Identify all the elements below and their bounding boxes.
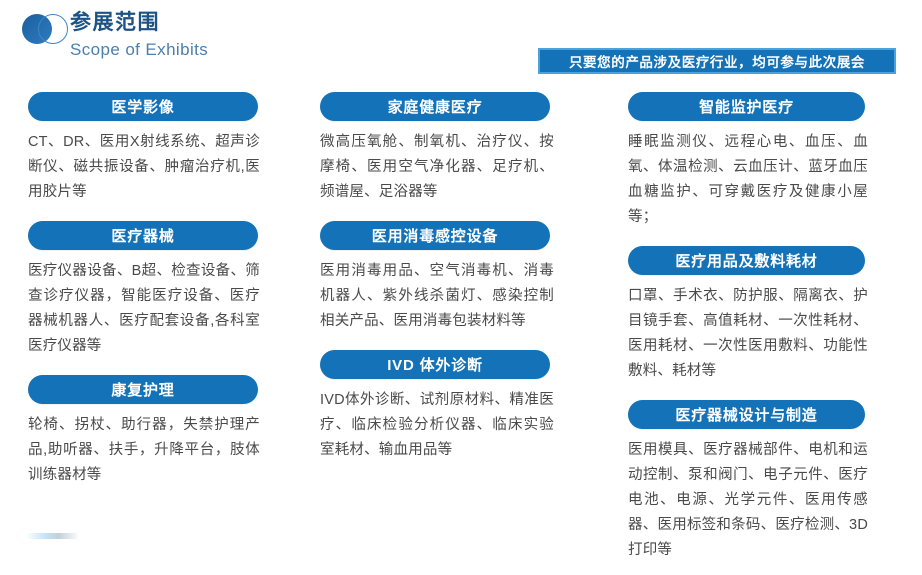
scope-card-title: 家庭健康医疗 [388,96,483,117]
logo-circle-outline [38,14,68,44]
page-header: 参展范围 Scope of Exhibits 只要您的产品涉及医疗行业，均可参与… [0,0,922,92]
scope-card: 医疗器械设计与制造 医用模具、医疗器械部件、电机和运动控制、泵和阀门、电子元件、… [628,400,912,563]
scope-card: 家庭健康医疗 微高压氧舱、制氧机、治疗仪、按摩椅、医用空气净化器、足疗机、频谱屋… [320,92,606,205]
scope-card-title-pill[interactable]: 家庭健康医疗 [320,92,550,121]
scope-columns: 医学影像 CT、DR、医用X射线系统、超声诊断仪、磁共振设备、肿瘤治疗机,医用胶… [0,92,922,575]
scope-card-title: IVD 体外诊断 [387,354,483,375]
footer-accent-mark [26,533,80,539]
tagline-text: 只要您的产品涉及医疗行业，均可参与此次展会 [569,51,865,71]
scope-card-title-pill[interactable]: 康复护理 [28,375,258,404]
scope-card: 康复护理 轮椅、拐杖、助行器，失禁护理产品,助听器、扶手，升降平台，肢体训练器材… [28,375,296,488]
scope-card-title-pill[interactable]: 医学影像 [28,92,258,121]
scope-card-body: 微高压氧舱、制氧机、治疗仪、按摩椅、医用空气净化器、足疗机、频谱屋、足浴器等 [320,130,554,205]
overlapping-circles-logo-icon [22,14,76,44]
scope-card-body: 睡眠监测仪、远程心电、血压、血氧、体温检测、云血压计、蓝牙血压血糖监护、可穿戴医… [628,130,868,230]
scope-card-title-pill[interactable]: 智能监护医疗 [628,92,865,121]
scope-card-title: 医用消毒感控设备 [372,225,498,246]
page-title-block: 参展范围 Scope of Exhibits [70,10,208,62]
scope-card-title-pill[interactable]: 医疗用品及敷料耗材 [628,246,865,275]
page-title: 参展范围 [70,10,208,36]
scope-card-body: 医用消毒用品、空气消毒机、消毒机器人、紫外线杀菌灯、感染控制相关产品、医用消毒包… [320,259,554,334]
scope-card: 智能监护医疗 睡眠监测仪、远程心电、血压、血氧、体温检测、云血压计、蓝牙血压血糖… [628,92,912,230]
scope-card-body: CT、DR、医用X射线系统、超声诊断仪、磁共振设备、肿瘤治疗机,医用胶片等 [28,130,260,205]
scope-card-title: 康复护理 [111,379,174,400]
scope-card-title: 医疗用品及敷料耗材 [675,250,817,271]
page-subtitle: Scope of Exhibits [70,38,208,62]
scope-column-2: 家庭健康医疗 微高压氧舱、制氧机、治疗仪、按摩椅、医用空气净化器、足疗机、频谱屋… [310,92,620,575]
scope-card-title: 医疗器械 [111,225,174,246]
scope-card: 医疗器械 医疗仪器设备、B超、检查设备、筛查诊疗仪器，智能医疗设备、医疗器械机器… [28,221,296,359]
tagline-banner: 只要您的产品涉及医疗行业，均可参与此次展会 [538,48,896,74]
scope-card: 医用消毒感控设备 医用消毒用品、空气消毒机、消毒机器人、紫外线杀菌灯、感染控制相… [320,221,606,334]
scope-card-title: 医疗器械设计与制造 [675,404,817,425]
scope-card-body: 医疗仪器设备、B超、检查设备、筛查诊疗仪器，智能医疗设备、医疗器械机器人、医疗配… [28,259,260,359]
scope-column-3: 智能监护医疗 睡眠监测仪、远程心电、血压、血氧、体温检测、云血压计、蓝牙血压血糖… [620,92,922,575]
scope-card-body: 轮椅、拐杖、助行器，失禁护理产品,助听器、扶手，升降平台，肢体训练器材等 [28,413,260,488]
scope-card-title-pill[interactable]: IVD 体外诊断 [320,350,550,379]
scope-column-1: 医学影像 CT、DR、医用X射线系统、超声诊断仪、磁共振设备、肿瘤治疗机,医用胶… [0,92,310,575]
scope-card: 医学影像 CT、DR、医用X射线系统、超声诊断仪、磁共振设备、肿瘤治疗机,医用胶… [28,92,296,205]
scope-card-title-pill[interactable]: 医用消毒感控设备 [320,221,550,250]
scope-card-title-pill[interactable]: 医疗器械设计与制造 [628,400,865,429]
scope-card-body: 口罩、手术衣、防护服、隔离衣、护目镜手套、高值耗材、一次性耗材、医用耗材、一次性… [628,284,868,384]
scope-card-title-pill[interactable]: 医疗器械 [28,221,258,250]
scope-card-body: 医用模具、医疗器械部件、电机和运动控制、泵和阀门、电子元件、医疗电池、电源、光学… [628,438,868,563]
scope-card-body: IVD体外诊断、试剂原材料、精准医疗、临床检验分析仪器、临床实验室耗材、输血用品… [320,388,554,463]
scope-card-title: 智能监护医疗 [699,96,794,117]
scope-card: IVD 体外诊断 IVD体外诊断、试剂原材料、精准医疗、临床检验分析仪器、临床实… [320,350,606,463]
scope-card: 医疗用品及敷料耗材 口罩、手术衣、防护服、隔离衣、护目镜手套、高值耗材、一次性耗… [628,246,912,384]
scope-card-title: 医学影像 [111,96,174,117]
